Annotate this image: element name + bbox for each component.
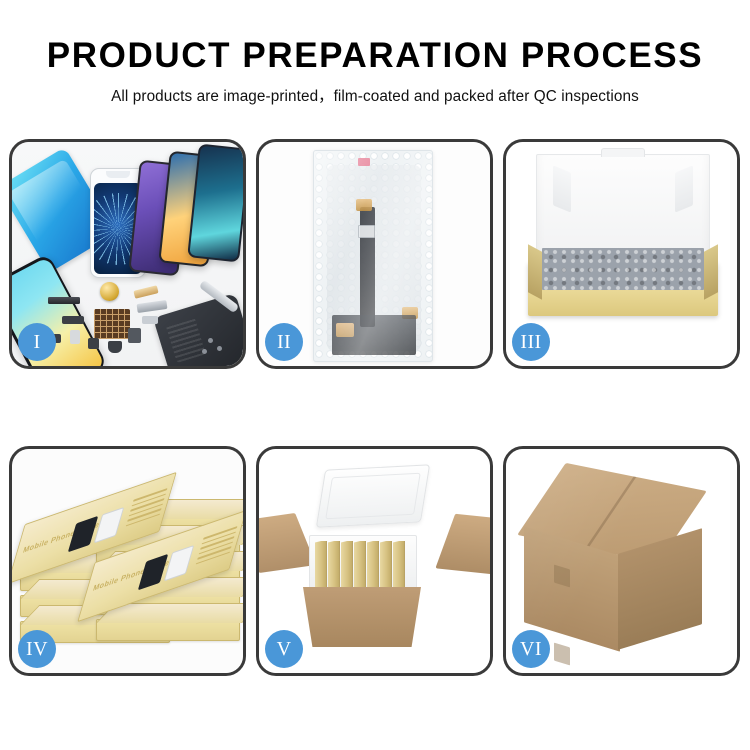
process-step-card-3[interactable]: III: [503, 139, 740, 369]
process-step-card-4[interactable]: Mobile Phone Spare Parts Mobile Phone Sp…: [9, 446, 246, 676]
small-part-4: [108, 341, 122, 353]
page-header: PRODUCT PREPARATION PROCESS All products…: [0, 0, 750, 106]
step-badge-3: III: [512, 323, 550, 361]
process-step-grid: I II: [9, 139, 742, 676]
lid-flap-right: [675, 165, 693, 212]
stacked-box-8: [96, 619, 240, 641]
step-badge-4: IV: [18, 630, 56, 668]
step-badge-1: I: [18, 323, 56, 361]
process-step-card-1[interactable]: I: [9, 139, 246, 369]
step-badge-2: II: [265, 323, 303, 361]
box-art-screen-white: [94, 507, 124, 543]
small-part-2: [70, 330, 80, 344]
chip-grid-component: [94, 309, 130, 339]
process-step-card-5[interactable]: V: [256, 446, 493, 676]
small-part-3: [88, 338, 99, 349]
speaker-bar-component: [48, 297, 80, 304]
gold-box-tray: [528, 262, 718, 316]
small-part-6: [142, 316, 158, 324]
box-art-screen-white: [164, 545, 194, 581]
grey-foam-insert: [542, 248, 704, 290]
phone-notch: [106, 171, 130, 178]
lid-flap-left: [553, 165, 571, 212]
page-title: PRODUCT PREPARATION PROCESS: [0, 36, 750, 75]
lcd-gold-contact-top: [356, 199, 372, 211]
box-art-screen-dark: [68, 516, 98, 552]
box-spec-lines: [125, 488, 168, 530]
page-subtitle: All products are image-printed，film-coat…: [0, 84, 750, 106]
bubble-wrap-bag: [313, 150, 433, 362]
lcd-driver-chip: [358, 225, 375, 238]
foam-lid-open: [316, 464, 430, 527]
lcd-connector-block: [332, 315, 416, 355]
small-part-5: [128, 328, 141, 343]
screw-2: [217, 346, 222, 351]
gold-boxes-inside: [315, 541, 413, 591]
screw-1: [208, 338, 213, 343]
lid-tab: [601, 148, 645, 157]
process-step-card-6[interactable]: VI: [503, 446, 740, 676]
tray-edge-right: [704, 244, 718, 299]
gold-component-icon: [100, 282, 119, 301]
step-badge-6: VI: [512, 630, 550, 668]
box-spec-lines: [195, 526, 238, 568]
small-part-1: [62, 316, 84, 324]
tray-edge-left: [528, 244, 542, 299]
carton-front-wall: [303, 587, 421, 647]
box-art-screen-dark: [138, 554, 168, 590]
screw-3: [202, 349, 207, 354]
pink-seal-tape: [358, 158, 370, 166]
process-step-card-2[interactable]: II: [256, 139, 493, 369]
step-badge-5: V: [265, 630, 303, 668]
